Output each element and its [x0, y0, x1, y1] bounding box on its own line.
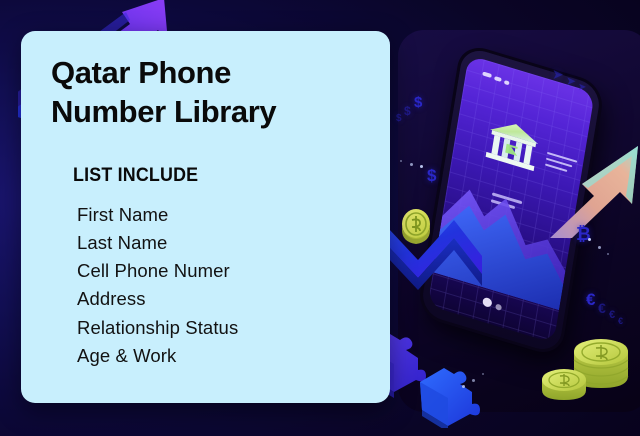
list-item: Address: [77, 285, 364, 313]
headline-line-1: Qatar Phone: [51, 55, 231, 90]
list-item: Age & Work: [77, 342, 364, 370]
list-include-heading: LIST INCLUDE: [73, 165, 347, 187]
gold-coin-icon: [400, 208, 432, 246]
list-item: First Name: [77, 201, 364, 229]
banner-graphic: $ $ $ $ ₿ € € € € ➤ ➤ ➤ Qatar Phone Numb…: [0, 0, 640, 436]
list-item: Last Name: [77, 229, 364, 257]
growth-arrow-icon: [548, 138, 640, 242]
promo-card: Qatar Phone Number Library LIST INCLUDE …: [21, 31, 390, 403]
headline-line-2: Number Library: [51, 94, 276, 129]
list-item: Cell Phone Numer: [77, 257, 364, 285]
feature-list: First Name Last Name Cell Phone Numer Ad…: [77, 201, 364, 370]
list-item: Relationship Status: [77, 314, 364, 342]
page-title: Qatar Phone Number Library: [51, 53, 364, 131]
coin-stack-icon: [540, 332, 636, 414]
